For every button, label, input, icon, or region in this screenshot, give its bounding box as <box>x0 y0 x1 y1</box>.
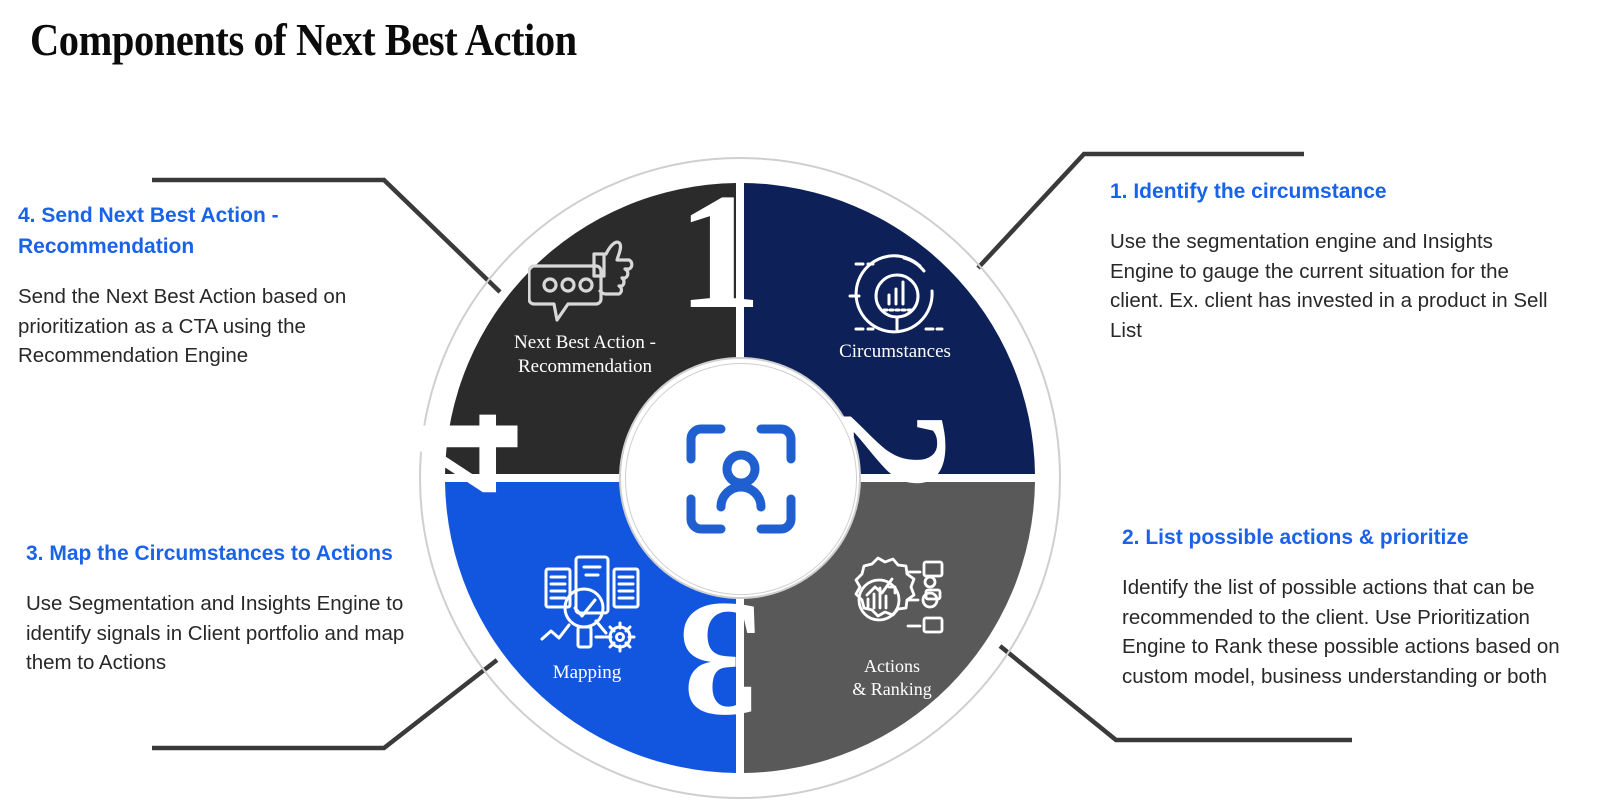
callout-1-body: Use the segmentation engine and Insights… <box>1110 227 1550 345</box>
callout-2: 2. List possible actions & prioritize Id… <box>1122 522 1592 691</box>
callout-1-heading: 1. Identify the circumstance <box>1110 176 1550 207</box>
callout-4-heading: 4. Send Next Best Action - Recommendatio… <box>18 200 418 262</box>
callout-3: 3. Map the Circumstances to Actions Use … <box>26 538 426 678</box>
wheel-center-hub <box>625 363 857 595</box>
person-identify-scan-icon <box>677 415 805 543</box>
diagram-canvas: Components of Next Best Action 4. Send N… <box>0 0 1610 804</box>
callout-4-body: Send the Next Best Action based on prior… <box>18 282 418 371</box>
callout-4: 4. Send Next Best Action - Recommendatio… <box>18 200 418 371</box>
callout-2-body: Identify the list of possible actions th… <box>1122 573 1592 691</box>
callout-1: 1. Identify the circumstance Use the seg… <box>1110 176 1550 345</box>
callout-2-heading: 2. List possible actions & prioritize <box>1122 522 1592 553</box>
nba-component-wheel: 1 2 3 4 <box>410 148 1070 808</box>
callout-3-heading: 3. Map the Circumstances to Actions <box>26 538 426 569</box>
callout-3-body: Use Segmentation and Insights Engine to … <box>26 589 426 678</box>
